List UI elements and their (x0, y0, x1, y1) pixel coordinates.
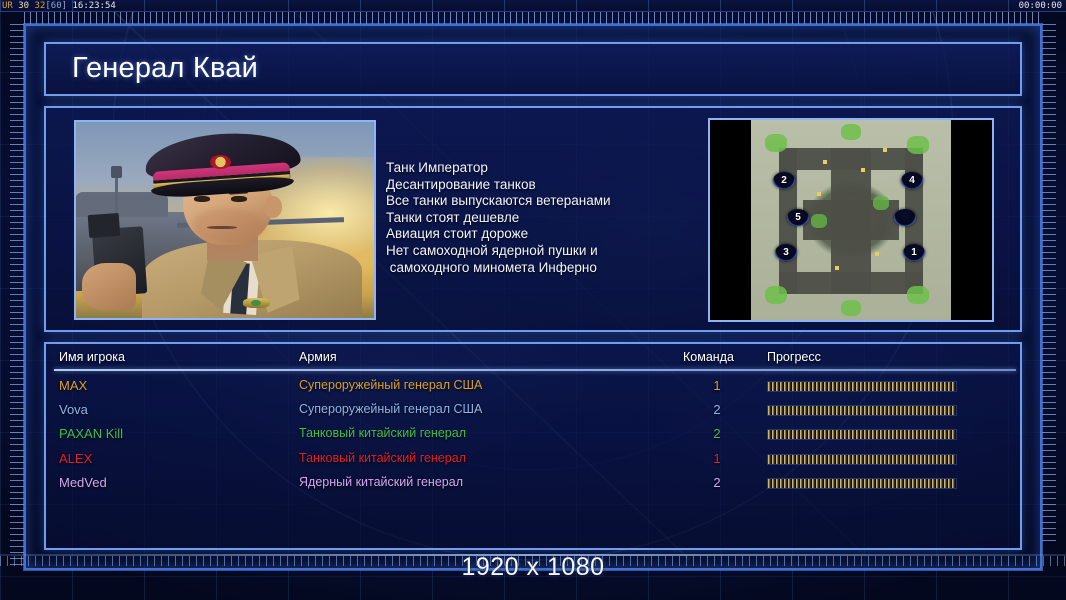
player-progress-bar (767, 381, 957, 392)
minimap-start-position-4[interactable]: 4 (901, 172, 923, 189)
minimap-start-position-5[interactable]: 5 (787, 209, 809, 226)
player-progress-bar (767, 429, 957, 440)
fps-cap: [60] (45, 1, 67, 11)
fps-value-a: 30 (18, 1, 29, 11)
table-row[interactable]: MedVedЯдерный китайский генерал2 (46, 475, 1020, 499)
column-header-progress: Прогресс (767, 350, 821, 364)
player-progress-bar (767, 478, 957, 489)
hud-topbar: UR 30 32[60] 16:23:54 00:00:00 (0, 0, 1066, 12)
minimap-foliage-2 (907, 136, 929, 154)
minimap-foliage-7 (811, 214, 827, 228)
general-info-panel: Танк Император Десантирование танков Все… (44, 106, 1022, 332)
minimap-resource-6 (883, 148, 887, 152)
main-window: Генерал Квай (24, 24, 1042, 570)
minimap-resource-1 (823, 160, 827, 164)
topbar-grid (0, 0, 1066, 11)
hud-clock: 00:00:00 (1019, 0, 1062, 12)
ruler-right (1042, 24, 1056, 544)
fps-prefix: UR (2, 1, 13, 11)
player-army: Супероружейный генерал США (299, 378, 482, 392)
player-progress-fill (768, 430, 956, 439)
player-army: Танковый китайский генерал (299, 451, 466, 465)
minimap-resource-4 (875, 252, 879, 256)
minimap-foliage-4 (907, 286, 929, 304)
table-row[interactable]: VovaСупероружейный генерал США2 (46, 402, 1020, 426)
resolution-watermark: 1920 x 1080 (0, 553, 1066, 582)
column-header-team: Команда (683, 350, 734, 364)
page-title: Генерал Квай (72, 52, 258, 85)
general-portrait (74, 120, 376, 320)
player-name: MAX (59, 378, 87, 393)
player-army: Супероружейный генерал США (299, 402, 482, 416)
portrait-ear (264, 196, 282, 218)
player-team: 2 (707, 426, 727, 441)
minimap-start-position-empty[interactable] (894, 209, 916, 226)
player-progress-fill (768, 382, 956, 391)
general-description: Танк Император Десантирование танков Все… (386, 160, 706, 276)
player-progress-bar (767, 405, 957, 416)
player-progress-bar (767, 454, 957, 465)
minimap-start-position-2[interactable]: 2 (773, 172, 795, 189)
minimap-start-position-1[interactable]: 1 (903, 244, 925, 261)
player-team: 1 (707, 378, 727, 393)
player-name: MedVed (59, 475, 107, 490)
player-name: ALEX (59, 451, 92, 466)
player-progress-fill (768, 455, 956, 464)
player-list-panel: Имя игрока Армия Команда Прогресс MAXСуп… (44, 342, 1022, 550)
minimap-resource-3 (817, 192, 821, 196)
player-name: Vova (59, 402, 88, 417)
player-progress-fill (768, 406, 956, 415)
minimap-foliage-1 (765, 134, 787, 152)
minimap-start-position-3[interactable]: 3 (775, 244, 797, 261)
table-row[interactable]: ALEXТанковый китайский генерал1 (46, 451, 1020, 475)
minimap-foliage-3 (765, 286, 787, 304)
player-army: Ядерный китайский генерал (299, 475, 463, 489)
portrait-rank-badge (243, 298, 270, 308)
portrait-cap-emblem (210, 155, 231, 169)
minimap-foliage-6 (841, 300, 861, 316)
table-header-rule (54, 369, 1016, 371)
player-name: PAXAN Kill (59, 426, 123, 441)
table-row[interactable]: PAXAN KillТанковый китайский генерал2 (46, 426, 1020, 450)
portrait-hand (82, 263, 136, 310)
portrait-eye-left (194, 196, 210, 202)
minimap-image: 24531 (751, 120, 951, 320)
minimap-resource-2 (861, 168, 865, 172)
minimap-resource-5 (835, 266, 839, 270)
column-header-name: Имя игрока (59, 350, 125, 364)
player-team: 1 (707, 451, 727, 466)
player-progress-fill (768, 479, 956, 488)
hud-time: 16:23:54 (72, 1, 115, 11)
minimap-foliage-5 (841, 124, 861, 140)
player-team: 2 (707, 402, 727, 417)
minimap-foliage-8 (873, 196, 889, 210)
fps-value-b: 32 (35, 1, 46, 11)
player-team: 2 (707, 475, 727, 490)
column-header-army: Армия (299, 350, 337, 364)
table-row[interactable]: MAXСупероружейный генерал США1 (46, 378, 1020, 402)
ruler-left (10, 24, 24, 570)
game-screen: UR 30 32[60] 16:23:54 00:00:00 Генерал К… (0, 0, 1066, 600)
player-army: Танковый китайский генерал (299, 426, 466, 440)
minimap-panel: 24531 (708, 118, 994, 322)
title-panel: Генерал Квай (44, 42, 1022, 96)
fps-counter: UR 30 32[60] 16:23:54 (2, 0, 116, 12)
